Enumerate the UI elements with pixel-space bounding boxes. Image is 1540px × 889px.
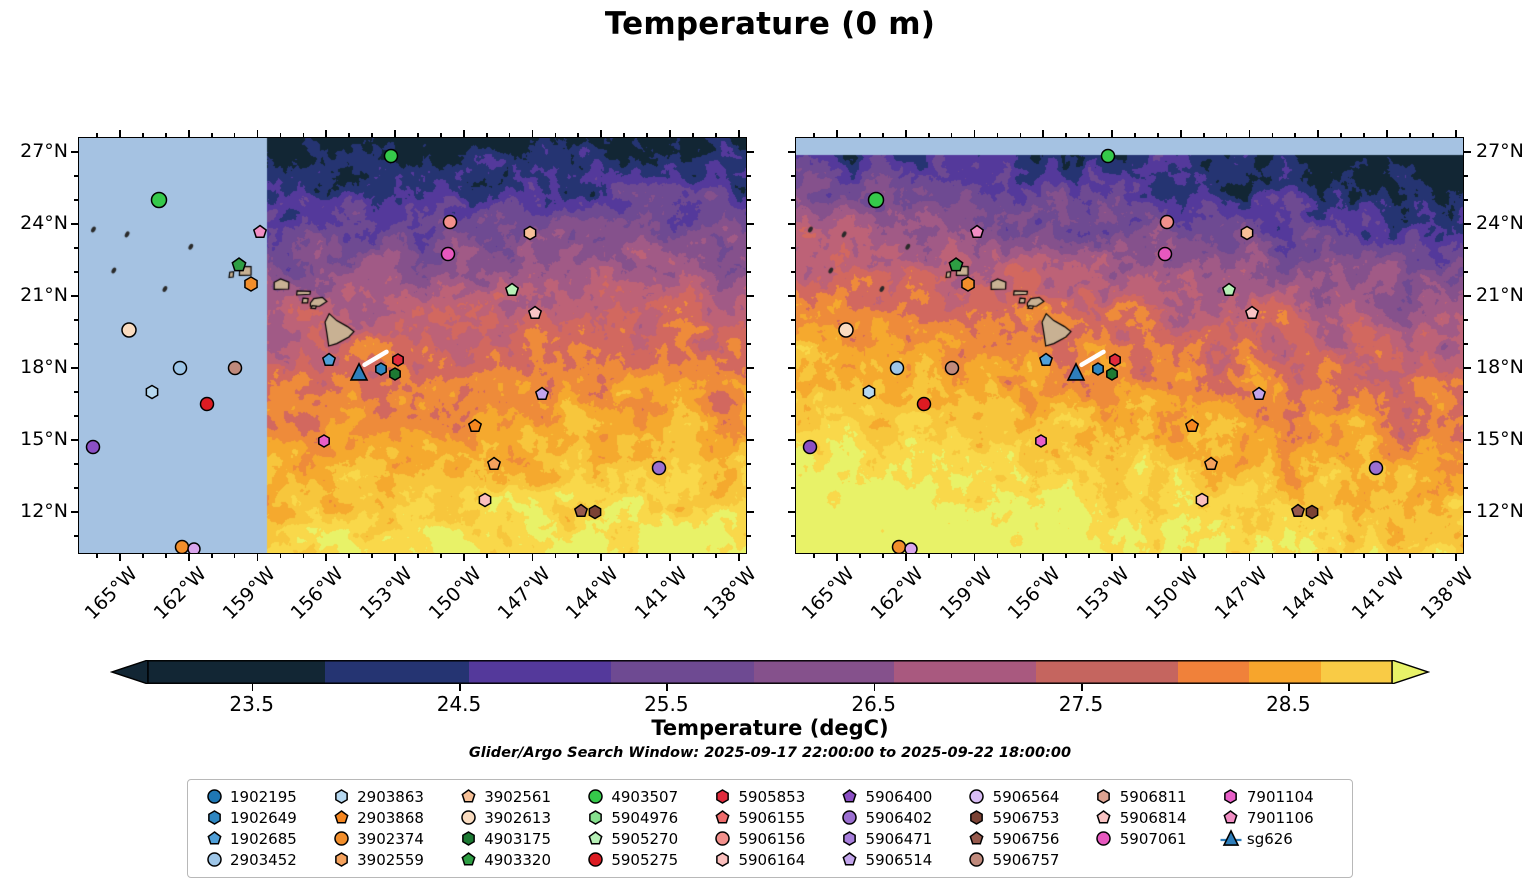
xtick-minor-cmems <box>1020 554 1022 558</box>
ytick-major-r-rtofs <box>747 223 754 225</box>
xtick-major-cmems <box>836 554 838 561</box>
legend-label: 7901104 <box>1247 788 1314 806</box>
float-marker-icon <box>834 787 866 806</box>
colorbar-tickmark-3 <box>874 684 876 691</box>
legend-item-5906753[interactable]: 5906753 <box>961 807 1088 828</box>
float-marker-4903507[interactable] <box>149 190 170 211</box>
xtick-minor-cmems <box>813 554 815 558</box>
legend-item-4903507[interactable]: 4903507 <box>579 786 706 807</box>
float-marker-icon <box>325 850 357 869</box>
ytick-label-right-1: 24°N <box>1476 212 1540 234</box>
ytick-minor-r-rtofs <box>747 535 751 537</box>
legend-item-2903863[interactable]: 2903863 <box>325 786 452 807</box>
legend-label: 2903452 <box>230 851 297 869</box>
legend-item-5905275[interactable]: 5905275 <box>579 849 706 870</box>
xtick-label-cmems-8: 141°W <box>1348 566 1406 624</box>
float-marker-icon <box>325 829 357 848</box>
xtick-minor-rtofs <box>96 554 98 558</box>
xtick-major-t-cmems <box>1249 130 1251 137</box>
legend-item-5906811[interactable]: 5906811 <box>1088 786 1215 807</box>
legend-label: 3902559 <box>357 851 424 869</box>
legend-label: 5906757 <box>993 851 1060 869</box>
legend-label: 3902561 <box>484 788 551 806</box>
float-marker-5906757[interactable] <box>942 359 961 378</box>
xtick-minor-cmems <box>928 554 930 558</box>
xtick-major-t-cmems <box>905 130 907 137</box>
ytick-major-r-cmems <box>1464 367 1471 369</box>
legend-item-5906564[interactable]: 5906564 <box>961 786 1088 807</box>
xtick-minor-cmems <box>1272 554 1274 558</box>
map-panel-cmems[interactable]: CMEMS - 2025-09-22 18:00:00 <box>795 137 1464 554</box>
xtick-label-rtofs-4: 153°W <box>356 566 414 624</box>
float-marker-icon <box>198 808 230 827</box>
legend-item-5907061[interactable]: 5907061 <box>1088 828 1215 849</box>
float-marker-icon <box>325 808 357 827</box>
float-marker-4903175[interactable] <box>386 365 404 383</box>
xtick-major-cmems <box>1317 554 1319 561</box>
colorbar-tick-label-5: 28.5 <box>1266 692 1311 716</box>
legend-item-5905270[interactable]: 5905270 <box>579 828 706 849</box>
xtick-minor-rtofs <box>280 554 282 558</box>
float-marker-4903507[interactable] <box>866 190 887 211</box>
xtick-major-t-cmems <box>1455 130 1457 137</box>
xtick-major-t-rtofs <box>600 130 602 137</box>
xtick-label-cmems-0: 165°W <box>798 566 856 624</box>
xtick-minor-rtofs <box>142 554 144 558</box>
float-marker-5905275[interactable] <box>915 395 934 414</box>
ytick-major-rtofs <box>71 367 78 369</box>
float-marker-5907061[interactable] <box>438 245 457 264</box>
float-marker-icon <box>198 787 230 806</box>
xtick-major-rtofs <box>600 554 602 561</box>
float-marker-3902613[interactable] <box>119 320 139 340</box>
float-marker-icon <box>579 850 611 869</box>
xtick-minor-cmems <box>1363 554 1365 558</box>
colorbar-tick-label-1: 24.5 <box>437 692 482 716</box>
ytick-label-right-4: 15°N <box>1476 428 1540 450</box>
xtick-label-cmems-7: 144°W <box>1279 566 1337 624</box>
legend-label: 5906756 <box>993 830 1060 848</box>
xtick-minor-rtofs <box>646 554 648 558</box>
ytick-minor-r-rtofs <box>747 391 751 393</box>
float-marker-icon <box>452 787 484 806</box>
float-marker-3902374[interactable] <box>958 274 978 294</box>
xtick-minor-rtofs <box>234 554 236 558</box>
legend-label: 7901106 <box>1247 809 1314 827</box>
ytick-major-r-cmems <box>1464 295 1471 297</box>
legend-item-3902374[interactable]: 3902374 <box>325 828 452 849</box>
float-marker-icon <box>834 829 866 848</box>
float-marker-icon <box>1215 808 1247 827</box>
legend-grid: 1902195190264919026852903452290386329038… <box>198 786 1342 870</box>
ytick-minor-r-rtofs <box>747 343 751 345</box>
xtick-major-t-cmems <box>1386 130 1388 137</box>
float-marker-5906814[interactable] <box>1242 303 1261 322</box>
colorbar-tickmark-4 <box>1081 684 1083 691</box>
float-marker-3902374[interactable] <box>241 274 261 294</box>
legend-item-4903320[interactable]: 4903320 <box>452 849 579 870</box>
legend-label: 5906811 <box>1120 788 1187 806</box>
colorbar-tickmark-1 <box>459 684 461 691</box>
float-marker-5906402[interactable] <box>649 458 668 477</box>
xtick-minor-rtofs <box>303 554 305 558</box>
xtick-label-rtofs-5: 150°W <box>424 566 482 624</box>
colorbar-tickmark-0 <box>252 684 254 691</box>
xtick-minor-cmems <box>882 554 884 558</box>
xtick-major-cmems <box>1455 554 1457 561</box>
glider-marker-icon <box>1215 829 1247 849</box>
ytick-major-rtofs <box>71 295 78 297</box>
float-marker-4903507[interactable] <box>381 147 400 166</box>
legend-item-5906471[interactable]: 5906471 <box>834 828 961 849</box>
ytick-minor-r-rtofs <box>747 487 751 489</box>
legend-item-3902559[interactable]: 3902559 <box>325 849 452 870</box>
float-marker-2903868[interactable] <box>466 416 485 435</box>
xtick-minor-cmems <box>951 554 953 558</box>
ytick-label-left-4: 15°N <box>0 428 68 450</box>
xtick-major-cmems <box>1386 554 1388 561</box>
float-marker-5906514[interactable] <box>1249 385 1268 404</box>
legend-item-3902561[interactable]: 3902561 <box>452 786 579 807</box>
xtick-label-rtofs-0: 165°W <box>81 566 139 624</box>
legend-label: 3902613 <box>484 809 551 827</box>
ytick-label-right-2: 21°N <box>1476 284 1540 306</box>
float-marker-icon <box>834 808 866 827</box>
xtick-major-t-cmems <box>1042 130 1044 137</box>
legend-column-2: 3902561390261349031754903320 <box>452 786 579 870</box>
float-marker-icon <box>706 829 738 848</box>
xtick-minor-cmems <box>997 554 999 558</box>
legend-label: 3902374 <box>357 830 424 848</box>
colorbar-title: Temperature (degC) <box>0 716 1540 740</box>
ytick-minor-r-cmems <box>1464 247 1468 249</box>
legend-label: 5907061 <box>1120 830 1187 848</box>
xtick-minor-rtofs <box>440 554 442 558</box>
xtick-label-cmems-9: 138°W <box>1416 566 1474 624</box>
colorbar-tick-label-3: 26.5 <box>851 692 896 716</box>
legend-item-5906155[interactable]: 5906155 <box>706 807 833 828</box>
legend-label: 5906564 <box>993 788 1060 806</box>
xtick-minor-cmems <box>1134 554 1136 558</box>
xtick-major-cmems <box>1249 554 1251 561</box>
float-marker-icon <box>452 808 484 827</box>
legend-column-3: 4903507590497659052705905275 <box>579 786 706 870</box>
xtick-major-t-rtofs <box>188 130 190 137</box>
ytick-label-right-5: 12°N <box>1476 500 1540 522</box>
xtick-major-t-rtofs <box>119 130 121 137</box>
ytick-minor-r-cmems <box>1464 463 1468 465</box>
legend-label: 5905853 <box>738 788 805 806</box>
ytick-major-rtofs <box>71 151 78 153</box>
float-marker-5906514[interactable] <box>532 385 551 404</box>
legend-item-2903452[interactable]: 2903452 <box>198 849 325 870</box>
legend-label: 5905275 <box>611 851 678 869</box>
xtick-major-cmems <box>1111 554 1113 561</box>
xtick-label-cmems-4: 153°W <box>1073 566 1131 624</box>
legend-column-0: 1902195190264919026852903452 <box>198 786 325 870</box>
legend-item-5906757[interactable]: 5906757 <box>961 849 1088 870</box>
legend-label: 5906156 <box>738 830 805 848</box>
xtick-major-cmems <box>1180 554 1182 561</box>
xtick-minor-rtofs <box>211 554 213 558</box>
xtick-minor-cmems <box>1294 554 1296 558</box>
ytick-major-cmems <box>788 295 795 297</box>
legend-column-1: 2903863290386839023743902559 <box>325 786 452 870</box>
legend-label: 1902195 <box>230 788 297 806</box>
float-marker-4903320[interactable] <box>229 255 249 275</box>
xtick-major-t-rtofs <box>463 130 465 137</box>
float-marker-2903452[interactable] <box>887 359 906 378</box>
xtick-major-rtofs <box>669 554 671 561</box>
float-marker-5906400[interactable] <box>800 438 819 457</box>
float-marker-icon <box>452 829 484 848</box>
legend-item-3902613[interactable]: 3902613 <box>452 807 579 828</box>
float-marker-7901106[interactable] <box>251 222 270 241</box>
xtick-minor-cmems <box>859 554 861 558</box>
ytick-major-cmems <box>788 223 795 225</box>
xtick-minor-rtofs <box>692 554 694 558</box>
legend-item-5905853[interactable]: 5905853 <box>706 786 833 807</box>
ytick-minor-r-cmems <box>1464 175 1468 177</box>
legend-item-sg626[interactable]: sg626 <box>1215 828 1342 849</box>
float-marker-icon <box>1215 787 1247 806</box>
float-marker-icon <box>1088 808 1120 827</box>
ytick-minor-r-cmems <box>1464 199 1468 201</box>
xtick-label-rtofs-8: 141°W <box>631 566 689 624</box>
float-marker-2903868[interactable] <box>1183 416 1202 435</box>
ytick-label-left-3: 18°N <box>0 356 68 378</box>
float-marker-icon <box>834 850 866 869</box>
ytick-major-cmems <box>788 511 795 513</box>
xtick-minor-rtofs <box>486 554 488 558</box>
legend-label: 2903868 <box>357 809 424 827</box>
xtick-minor-rtofs <box>165 554 167 558</box>
xtick-minor-cmems <box>1340 554 1342 558</box>
legend-label: 4903320 <box>484 851 551 869</box>
float-marker-icon <box>961 850 993 869</box>
xtick-major-rtofs <box>119 554 121 561</box>
legend-label: 5906814 <box>1120 809 1187 827</box>
float-marker-icon <box>579 787 611 806</box>
float-marker-5906164[interactable] <box>475 490 494 509</box>
legend-label: 5906753 <box>993 809 1060 827</box>
xtick-label-rtofs-3: 156°W <box>287 566 345 624</box>
float-marker-5906400[interactable] <box>83 438 102 457</box>
float-marker-1902685[interactable] <box>1036 350 1055 369</box>
float-marker-icon <box>325 787 357 806</box>
legend-item-2903868[interactable]: 2903868 <box>325 807 452 828</box>
xtick-minor-rtofs <box>348 554 350 558</box>
xtick-minor-rtofs <box>715 554 717 558</box>
float-marker-1902685[interactable] <box>319 350 338 369</box>
float-marker-5906757[interactable] <box>225 359 244 378</box>
float-marker-5906156[interactable] <box>1158 212 1177 231</box>
legend-item-5906164[interactable]: 5906164 <box>706 849 833 870</box>
xtick-label-cmems-5: 150°W <box>1141 566 1199 624</box>
legend-item-1902685[interactable]: 1902685 <box>198 828 325 849</box>
float-marker-4903175[interactable] <box>1103 365 1121 383</box>
xtick-major-t-rtofs <box>257 130 259 137</box>
ytick-major-r-cmems <box>1464 223 1471 225</box>
float-marker-2903863[interactable] <box>143 383 162 402</box>
xtick-major-t-rtofs <box>669 130 671 137</box>
float-marker-5905270[interactable] <box>503 281 522 300</box>
ytick-minor-r-rtofs <box>747 271 751 273</box>
legend-label: 4903175 <box>484 830 551 848</box>
ytick-major-rtofs <box>71 511 78 513</box>
coastline-overlay-cmems <box>796 138 1464 554</box>
legend-item-5906402[interactable]: 5906402 <box>834 807 961 828</box>
xtick-major-rtofs <box>532 554 534 561</box>
xtick-label-cmems-6: 147°W <box>1210 566 1268 624</box>
float-marker-icon <box>198 850 230 869</box>
colorbar-tick-label-0: 23.5 <box>229 692 274 716</box>
legend-item-7901106[interactable]: 7901106 <box>1215 807 1342 828</box>
float-marker-3902561[interactable] <box>521 223 540 242</box>
xtick-minor-rtofs <box>509 554 511 558</box>
legend-column-7: 590681159068145907061 <box>1088 786 1215 870</box>
legend-column-6: 5906564590675359067565906757 <box>961 786 1088 870</box>
ytick-major-r-cmems <box>1464 511 1471 513</box>
xtick-major-t-cmems <box>1317 130 1319 137</box>
ytick-label-left-1: 24°N <box>0 212 68 234</box>
colorbar-tickmark-2 <box>666 684 668 691</box>
ytick-minor-r-cmems <box>1464 535 1468 537</box>
xtick-major-rtofs <box>463 554 465 561</box>
float-marker-7901104[interactable] <box>1032 432 1050 450</box>
ytick-major-rtofs <box>71 439 78 441</box>
float-marker-7901106[interactable] <box>968 222 987 241</box>
legend-label: 5906400 <box>866 788 933 806</box>
legend-item-5906814[interactable]: 5906814 <box>1088 807 1215 828</box>
legend-item-1902649[interactable]: 1902649 <box>198 807 325 828</box>
xtick-major-t-cmems <box>1111 130 1113 137</box>
ytick-major-r-rtofs <box>747 367 754 369</box>
float-marker-icon <box>452 850 484 869</box>
legend-item-7901104[interactable]: 7901104 <box>1215 786 1342 807</box>
legend-item-4903175[interactable]: 4903175 <box>452 828 579 849</box>
float-marker-4903507[interactable] <box>1098 147 1117 166</box>
colorbar-tickmark-5 <box>1288 684 1290 691</box>
xtick-label-cmems-1: 162°W <box>867 566 925 624</box>
float-marker-icon <box>579 808 611 827</box>
xtick-label-rtofs-2: 159°W <box>218 566 276 624</box>
xtick-major-cmems <box>1042 554 1044 561</box>
float-marker-5906156[interactable] <box>441 212 460 231</box>
xtick-major-t-rtofs <box>394 130 396 137</box>
ytick-major-cmems <box>788 151 795 153</box>
ytick-minor-r-rtofs <box>747 175 751 177</box>
float-marker-icon <box>706 850 738 869</box>
xtick-label-rtofs-1: 162°W <box>150 566 208 624</box>
xtick-label-rtofs-6: 147°W <box>493 566 551 624</box>
float-marker-4903320[interactable] <box>946 255 966 275</box>
float-marker-5906471[interactable] <box>185 540 203 554</box>
float-marker-3902559[interactable] <box>484 454 503 473</box>
float-marker-sg626[interactable] <box>1065 362 1087 384</box>
xtick-major-cmems <box>905 554 907 561</box>
float-legend[interactable]: 1902195190264919026852903452290386329038… <box>187 779 1353 878</box>
legend-column-8: 79011047901106sg626 <box>1215 786 1342 870</box>
legend-item-5906400[interactable]: 5906400 <box>834 786 961 807</box>
ytick-label-left-5: 12°N <box>0 500 68 522</box>
xtick-minor-cmems <box>1203 554 1205 558</box>
legend-item-1902195[interactable]: 1902195 <box>198 786 325 807</box>
colorbar-tick-label-2: 25.5 <box>644 692 689 716</box>
xtick-major-rtofs <box>257 554 259 561</box>
ytick-major-r-rtofs <box>747 295 754 297</box>
float-marker-5905275[interactable] <box>198 395 217 414</box>
float-marker-5906814[interactable] <box>525 303 544 322</box>
float-marker-icon <box>1088 787 1120 806</box>
colorbar-tick-label-4: 27.5 <box>1059 692 1104 716</box>
float-marker-icon <box>961 787 993 806</box>
ytick-label-left-0: 27°N <box>0 140 68 162</box>
search-window-text: Glider/Argo Search Window: 2025-09-17 22… <box>0 745 1540 761</box>
float-marker-5906753[interactable] <box>585 502 604 521</box>
float-marker-5906471[interactable] <box>902 540 920 554</box>
ytick-minor-r-rtofs <box>747 199 751 201</box>
float-marker-3902559[interactable] <box>1201 454 1220 473</box>
float-marker-sg626[interactable] <box>348 362 370 384</box>
legend-item-5904976[interactable]: 5904976 <box>579 807 706 828</box>
ytick-minor-r-cmems <box>1464 271 1468 273</box>
ytick-major-r-cmems <box>1464 151 1471 153</box>
legend-item-5906514[interactable]: 5906514 <box>834 849 961 870</box>
float-marker-2903452[interactable] <box>170 359 189 378</box>
float-marker-7901104[interactable] <box>315 432 333 450</box>
legend-label: 4903507 <box>611 788 678 806</box>
xtick-minor-rtofs <box>371 554 373 558</box>
legend-item-5906156[interactable]: 5906156 <box>706 828 833 849</box>
legend-label: 5906402 <box>866 809 933 827</box>
map-panel-rtofs[interactable]: RTOFS - 2025-09-22 18:00:00 <box>78 137 747 554</box>
xtick-minor-rtofs <box>577 554 579 558</box>
legend-label: sg626 <box>1247 830 1293 848</box>
float-marker-2903863[interactable] <box>860 383 879 402</box>
float-marker-5906164[interactable] <box>1192 490 1211 509</box>
legend-label: 2903863 <box>357 788 424 806</box>
xtick-minor-rtofs <box>555 554 557 558</box>
xtick-major-t-cmems <box>836 130 838 137</box>
float-marker-5905270[interactable] <box>1220 281 1239 300</box>
float-marker-5906402[interactable] <box>1366 458 1385 477</box>
legend-item-5906756[interactable]: 5906756 <box>961 828 1088 849</box>
ytick-minor-r-cmems <box>1464 487 1468 489</box>
xtick-minor-cmems <box>1088 554 1090 558</box>
ytick-major-r-rtofs <box>747 151 754 153</box>
colorbar-ticks: 23.524.525.526.527.528.5 <box>110 660 1430 720</box>
xtick-minor-cmems <box>1432 554 1434 558</box>
ytick-major-r-cmems <box>1464 439 1471 441</box>
float-marker-5907061[interactable] <box>1155 245 1174 264</box>
ytick-minor-r-cmems <box>1464 319 1468 321</box>
float-marker-icon <box>1088 829 1120 848</box>
float-marker-3902613[interactable] <box>836 320 856 340</box>
ytick-label-right-0: 27°N <box>1476 140 1540 162</box>
ytick-label-right-3: 18°N <box>1476 356 1540 378</box>
coastline-overlay-rtofs <box>79 138 747 554</box>
float-marker-3902561[interactable] <box>1238 223 1257 242</box>
ytick-minor-r-rtofs <box>747 319 751 321</box>
xtick-minor-cmems <box>1409 554 1411 558</box>
float-marker-5906753[interactable] <box>1302 502 1321 521</box>
ytick-major-r-rtofs <box>747 511 754 513</box>
xtick-minor-rtofs <box>623 554 625 558</box>
float-marker-icon <box>706 787 738 806</box>
xtick-minor-rtofs <box>417 554 419 558</box>
float-marker-icon <box>579 829 611 848</box>
